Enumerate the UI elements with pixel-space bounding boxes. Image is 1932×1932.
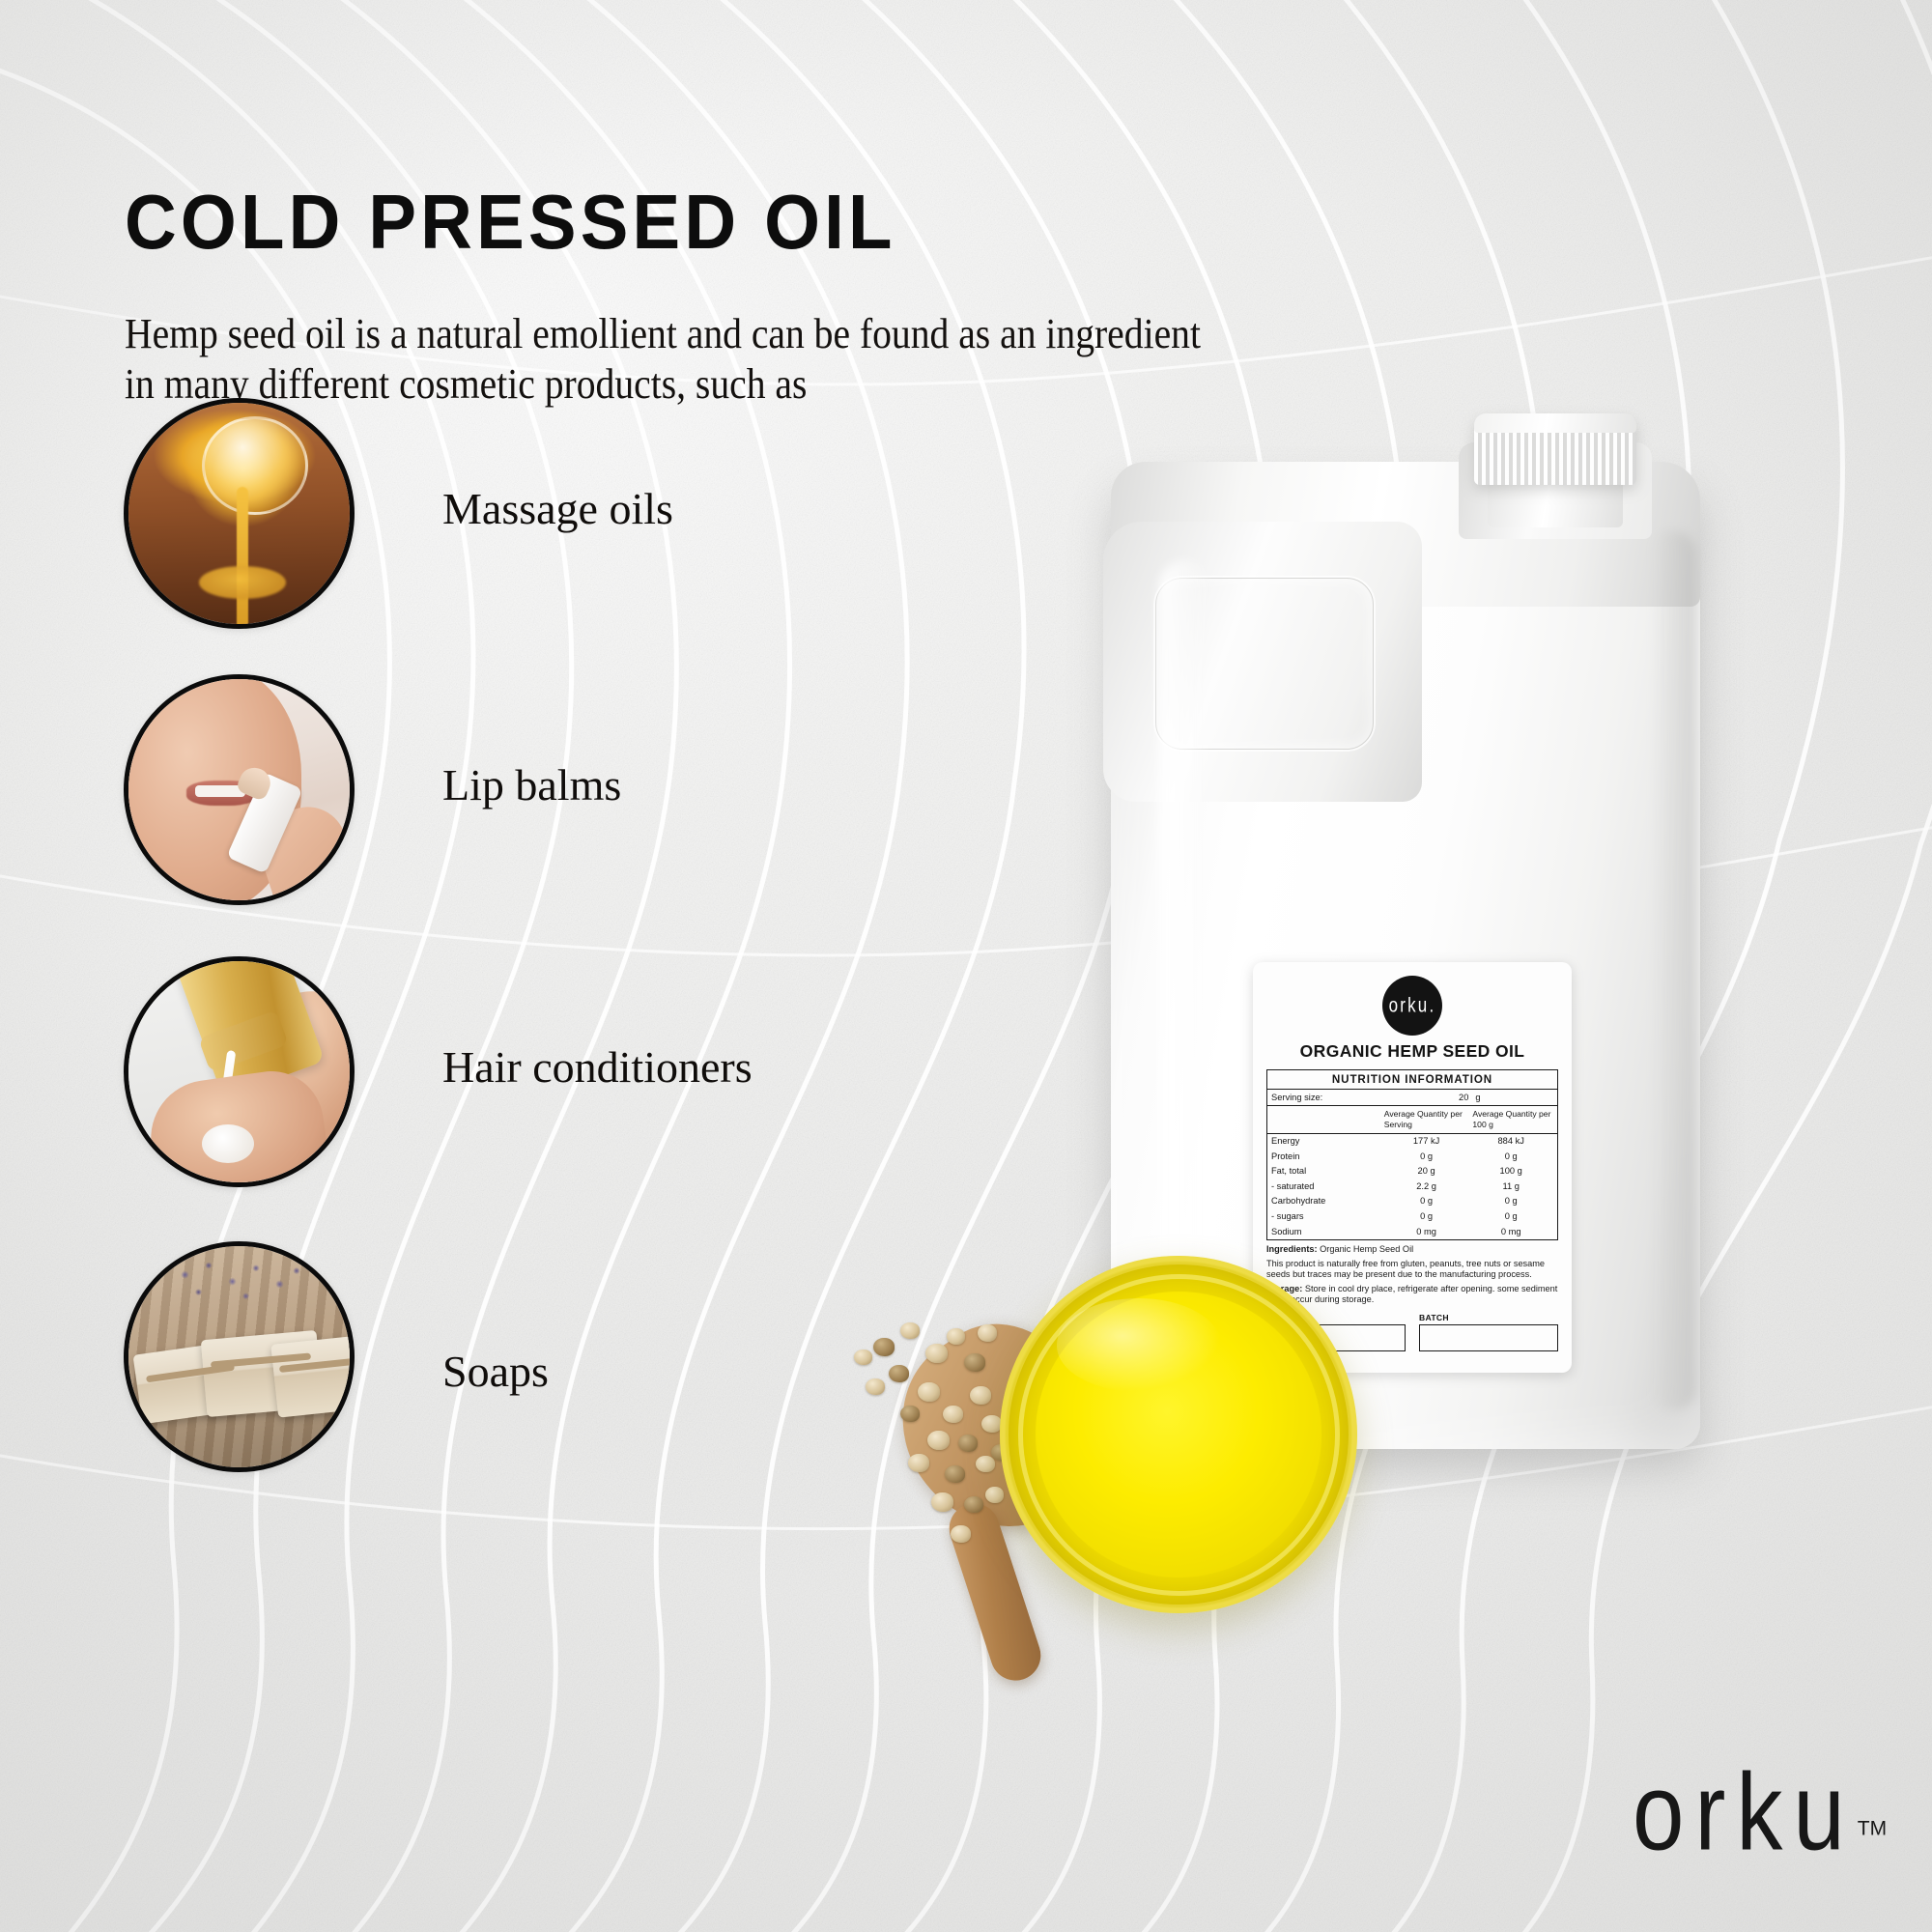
logo-text: orku. [1389,994,1436,1018]
use-label-soaps: Soaps [442,1346,549,1397]
value-per-serving: 0 g [1384,1151,1469,1162]
product-name: ORGANIC HEMP SEED OIL [1253,1041,1572,1062]
batch-field-box [1419,1324,1558,1351]
value-per-100g: 0 g [1468,1211,1553,1222]
ingredients-line: Ingredients: Organic Hemp Seed Oil [1266,1244,1558,1255]
marketing-banner: COLD PRESSED OIL Hemp seed oil is a natu… [0,0,1932,1932]
value-per-serving: 2.2 g [1384,1181,1469,1192]
table-row: Protein 0 g 0 g [1267,1149,1557,1164]
ingredients-value: Organic Hemp Seed Oil [1320,1244,1413,1254]
nutrient-name: - saturated [1271,1181,1384,1192]
table-row: Energy 177 kJ 884 kJ [1267,1134,1557,1150]
table-row: Sodium 0 mg 0 mg [1267,1224,1557,1239]
use-thumbnail-hair-conditioners [124,956,355,1187]
nutrient-name: Carbohydrate [1271,1196,1384,1207]
brand-watermark: orkuTM [1633,1750,1887,1876]
value-per-100g: 0 g [1468,1151,1553,1162]
nutrient-name: Protein [1271,1151,1384,1162]
column-header-per-serving: Average Quantity per Serving [1384,1109,1473,1129]
nutrient-name: Sodium [1271,1227,1384,1237]
value-per-serving: 0 g [1384,1211,1469,1222]
value-per-serving: 0 g [1384,1196,1469,1207]
table-row: Fat, total 20 g 100 g [1267,1164,1557,1179]
value-per-serving: 177 kJ [1384,1136,1469,1147]
use-label-lip-balms: Lip balms [442,759,621,810]
orku-logo-icon: orku. [1382,976,1442,1036]
ingredients-label: Ingredients: [1266,1244,1318,1254]
use-thumbnail-massage-oils [124,398,355,629]
serving-size-unit: g [1468,1093,1480,1103]
use-label-massage-oils: Massage oils [442,483,673,534]
column-header-per-100g: Average Quantity per 100 g [1472,1109,1561,1129]
nutrition-heading: NUTRITION INFORMATION [1267,1070,1557,1090]
trademark-symbol: TM [1858,1817,1887,1840]
value-per-100g: 0 g [1468,1196,1553,1207]
value-per-100g: 100 g [1468,1166,1553,1177]
value-per-serving: 20 g [1384,1166,1469,1177]
table-row: Carbohydrate 0 g 0 g [1267,1194,1557,1209]
nutrition-table: NUTRITION INFORMATION Serving size: 20 g… [1266,1069,1558,1240]
table-row: - sugars 0 g 0 g [1267,1209,1557,1225]
serving-size-label: Serving size: [1271,1093,1424,1103]
page-title: COLD PRESSED OIL [125,184,896,261]
table-row: - saturated 2.2 g 11 g [1267,1179,1557,1195]
value-per-100g: 884 kJ [1468,1136,1553,1147]
nutrient-name: Energy [1271,1136,1384,1147]
page-subtitle: Hemp seed oil is a natural emollient and… [125,309,1207,410]
use-thumbnail-soaps [124,1241,355,1472]
value-per-serving: 0 mg [1384,1227,1469,1237]
serving-size-value: 20 [1424,1093,1469,1103]
nutrient-name: Fat, total [1271,1166,1384,1177]
value-per-100g: 11 g [1468,1181,1553,1192]
use-label-hair-conditioners: Hair conditioners [442,1041,753,1093]
brand-name: orku [1633,1751,1856,1873]
nutrient-name: - sugars [1271,1211,1384,1222]
use-thumbnail-lip-balms [124,674,355,905]
value-per-100g: 0 mg [1468,1227,1553,1237]
batch-field-label: BATCH [1419,1313,1558,1322]
glass-bowl-of-hemp-oil [1000,1256,1357,1613]
